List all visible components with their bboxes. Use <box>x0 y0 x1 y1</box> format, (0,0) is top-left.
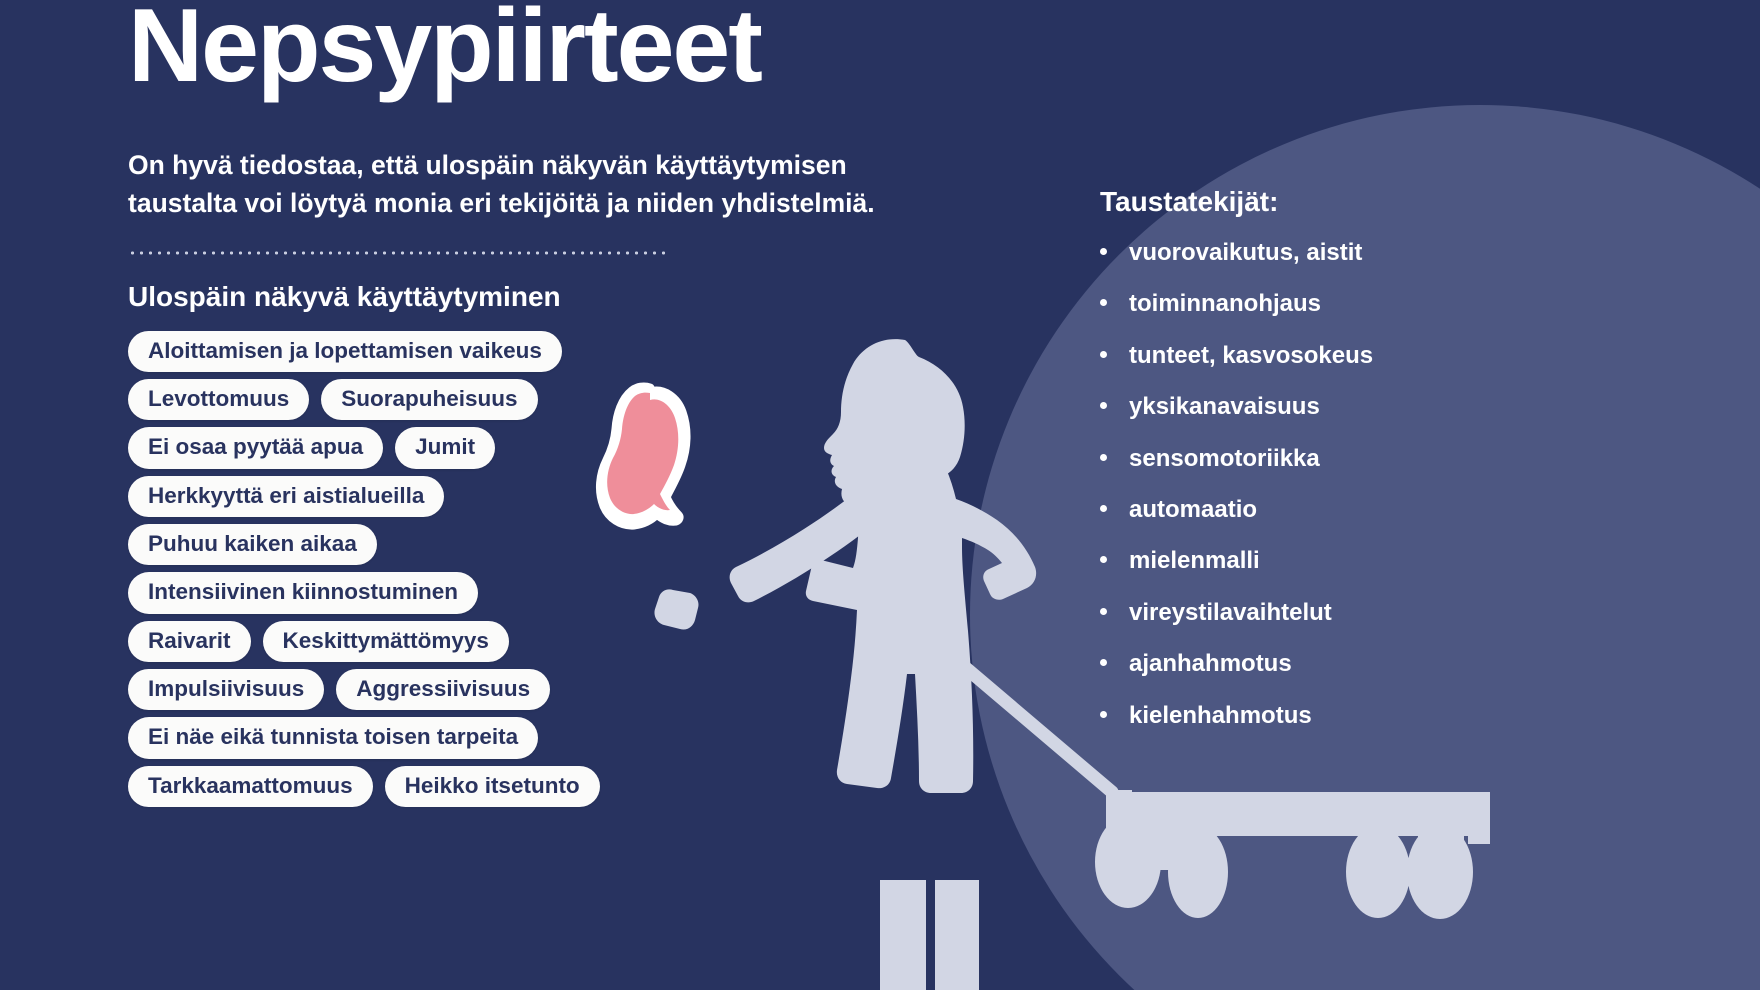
factor-label: vireystilavaihtelut <box>1129 600 1332 626</box>
behaviour-pill[interactable]: Intensiivinen kiinnostuminen <box>128 572 478 613</box>
factor-label: sensomotoriikka <box>1129 446 1320 472</box>
behaviour-section-heading: Ulospäin näkyvä käyttäytyminen <box>128 281 948 313</box>
behaviour-pill[interactable]: Suorapuheisuus <box>321 379 537 420</box>
bullet-icon <box>1100 248 1107 255</box>
behaviour-pill[interactable]: Heikko itsetunto <box>385 766 600 807</box>
bullet-icon <box>1100 454 1107 461</box>
factor-list-item: tunteet, kasvosokeus <box>1100 343 1660 369</box>
factor-list-item: mielenmalli <box>1100 548 1660 574</box>
behaviour-pill-row: ImpulsiivisuusAggressiivisuus <box>128 669 948 710</box>
dotted-divider <box>128 251 671 255</box>
page-title: Nepsypiirteet <box>128 0 948 98</box>
behaviour-pill-row: Ei näe eikä tunnista toisen tarpeita <box>128 717 948 758</box>
factor-label: toiminnanohjaus <box>1129 291 1321 317</box>
left-content-column: Nepsypiirteet On hyvä tiedostaa, että ul… <box>128 0 948 807</box>
bullet-icon <box>1100 711 1107 718</box>
behaviour-pill[interactable]: Ei osaa pyytää apua <box>128 427 383 468</box>
factors-section-heading: Taustatekijät: <box>1100 186 1660 218</box>
behaviour-pill[interactable]: Ei näe eikä tunnista toisen tarpeita <box>128 717 538 758</box>
behaviour-pill-row: RaivaritKeskittymättömyys <box>128 621 948 662</box>
behaviour-pill[interactable]: Aloittamisen ja lopettamisen vaikeus <box>128 331 562 372</box>
behaviour-pill-row: Puhuu kaiken aikaa <box>128 524 948 565</box>
intro-paragraph: On hyvä tiedostaa, että ulospäin näkyvän… <box>128 146 948 223</box>
behaviour-pill[interactable]: Levottomuus <box>128 379 309 420</box>
bullet-icon <box>1100 505 1107 512</box>
behaviour-pill-list: Aloittamisen ja lopettamisen vaikeusLevo… <box>128 331 948 807</box>
factor-list-item: yksikanavaisuus <box>1100 394 1660 420</box>
right-content-column: Taustatekijät: vuorovaikutus, aistittoim… <box>1100 186 1660 754</box>
bullet-icon <box>1100 299 1107 306</box>
behaviour-pill[interactable]: Aggressiivisuus <box>336 669 550 710</box>
factor-label: ajanhahmotus <box>1129 651 1292 677</box>
factor-label: mielenmalli <box>1129 548 1260 574</box>
behaviour-pill-row: Aloittamisen ja lopettamisen vaikeus <box>128 331 948 372</box>
factor-label: kielenhahmotus <box>1129 703 1312 729</box>
factor-list-item: toiminnanohjaus <box>1100 291 1660 317</box>
factor-list-item: sensomotoriikka <box>1100 446 1660 472</box>
factor-label: tunteet, kasvosokeus <box>1129 343 1373 369</box>
behaviour-pill-row: Ei osaa pyytää apuaJumit <box>128 427 948 468</box>
behaviour-pill-row: Herkkyyttä eri aistialueilla <box>128 476 948 517</box>
behaviour-pill[interactable]: Tarkkaamattomuus <box>128 766 373 807</box>
bullet-icon <box>1100 608 1107 615</box>
behaviour-pill[interactable]: Raivarit <box>128 621 251 662</box>
behaviour-pill[interactable]: Keskittymättömyys <box>263 621 509 662</box>
behaviour-pill[interactable]: Jumit <box>395 427 495 468</box>
behaviour-pill[interactable]: Puhuu kaiken aikaa <box>128 524 377 565</box>
bullet-icon <box>1100 659 1107 666</box>
factor-list-item: ajanhahmotus <box>1100 651 1660 677</box>
bullet-icon <box>1100 402 1107 409</box>
factor-list-item: vireystilavaihtelut <box>1100 600 1660 626</box>
factor-label: yksikanavaisuus <box>1129 394 1320 420</box>
infographic-poster: Nepsypiirteet On hyvä tiedostaa, että ul… <box>0 0 1760 990</box>
factor-list-item: automaatio <box>1100 497 1660 523</box>
factor-list-item: kielenhahmotus <box>1100 703 1660 729</box>
behaviour-pill-row: Intensiivinen kiinnostuminen <box>128 572 948 613</box>
bullet-icon <box>1100 351 1107 358</box>
factor-list-item: vuorovaikutus, aistit <box>1100 240 1660 266</box>
factor-label: automaatio <box>1129 497 1257 523</box>
factors-list: vuorovaikutus, aistittoiminnanohjaustunt… <box>1100 240 1660 729</box>
behaviour-pill-row: TarkkaamattomuusHeikko itsetunto <box>128 766 948 807</box>
bullet-icon <box>1100 556 1107 563</box>
behaviour-pill[interactable]: Herkkyyttä eri aistialueilla <box>128 476 444 517</box>
behaviour-pill-row: LevottomuusSuorapuheisuus <box>128 379 948 420</box>
factor-label: vuorovaikutus, aistit <box>1129 240 1362 266</box>
behaviour-pill[interactable]: Impulsiivisuus <box>128 669 324 710</box>
